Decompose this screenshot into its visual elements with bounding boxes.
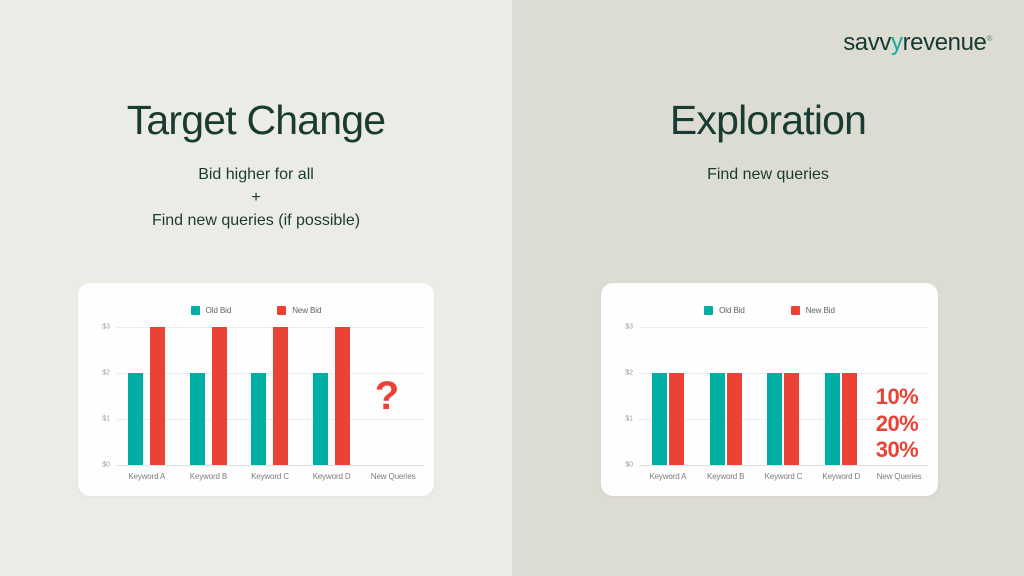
bar-group-new-queries: ? New Queries [362, 327, 424, 465]
new-queries-annotation-right: 10% 20% 30% [866, 327, 928, 465]
bar-old-bid-keyword-b [190, 373, 205, 465]
percent-value-10: 10% [876, 385, 919, 410]
xlabel-keyword-b: Keyword B [190, 472, 227, 481]
bar-groups-left: Keyword A Keyword B Keyword C [116, 327, 424, 465]
bar-group-keyword-d: Keyword D [301, 327, 363, 465]
percent-value-30: 30% [876, 438, 919, 463]
bar-old-bid-keyword-b-right [710, 373, 725, 465]
xlabel-keyword-b-right: Keyword B [707, 472, 744, 481]
xlabel-keyword-d-right: Keyword D [822, 472, 860, 481]
bar-group-keyword-b-right: Keyword B [697, 327, 755, 465]
gridline-0-right [639, 465, 928, 466]
left-page-title: Target Change [127, 100, 386, 141]
legend-item-old-bid-right: Old Bid [704, 306, 745, 315]
bar-group-new-queries-right: 10% 20% 30% New Queries [870, 327, 928, 465]
xlabel-keyword-a: Keyword A [128, 472, 165, 481]
plot-area-right: $3 $2 $1 $0 Keyword A [639, 327, 928, 465]
ytick-label-3-right: $3 [625, 324, 633, 331]
ytick-label-0: $0 [102, 462, 110, 469]
legend-label-old-bid-right: Old Bid [719, 306, 745, 315]
right-subtitle: Find new queries [707, 163, 829, 186]
bar-old-bid-keyword-c [251, 373, 266, 465]
legend-label-old-bid: Old Bid [206, 306, 232, 315]
exploration-chart-card: Old Bid New Bid $3 $2 $1 $0 [601, 283, 938, 496]
legend-item-new-bid-right: New Bid [791, 306, 835, 315]
bar-new-bid-keyword-c [273, 327, 288, 465]
legend-swatch-old-bid [191, 306, 200, 315]
xlabel-keyword-a-right: Keyword A [649, 472, 686, 481]
ytick-label-2-right: $2 [625, 369, 633, 376]
gridline-0 [116, 465, 424, 466]
bar-new-bid-keyword-d-right [842, 373, 857, 465]
bar-group-keyword-a-right: Keyword A [639, 327, 697, 465]
plot-area-left: $3 $2 $1 $0 Keyword A [116, 327, 424, 465]
xlabel-keyword-c: Keyword C [251, 472, 289, 481]
bar-old-bid-keyword-c-right [767, 373, 782, 465]
bar-new-bid-keyword-a-right [669, 373, 684, 465]
legend-swatch-new-bid-right [791, 306, 800, 315]
legend-label-new-bid: New Bid [292, 306, 321, 315]
bar-new-bid-keyword-b [212, 327, 227, 465]
legend-swatch-old-bid-right [704, 306, 713, 315]
ytick-label-1: $1 [102, 415, 110, 422]
legend-item-new-bid: New Bid [277, 306, 321, 315]
ytick-label-3: $3 [102, 324, 110, 331]
exploration-chart: Old Bid New Bid $3 $2 $1 $0 [601, 283, 938, 496]
bar-group-keyword-d-right: Keyword D [812, 327, 870, 465]
bar-new-bid-keyword-c-right [784, 373, 799, 465]
bar-group-keyword-a: Keyword A [116, 327, 178, 465]
bar-new-bid-keyword-b-right [727, 373, 742, 465]
target-change-chart: Old Bid New Bid $3 $2 $1 $0 [78, 283, 434, 496]
bar-new-bid-keyword-a [150, 327, 165, 465]
left-subtitle: Bid higher for all + Find new queries (i… [152, 163, 360, 233]
percent-value-20: 20% [876, 412, 919, 437]
bar-group-keyword-c-right: Keyword C [755, 327, 813, 465]
right-page-title: Exploration [670, 100, 866, 141]
xlabel-new-queries-right: New Queries [877, 472, 922, 481]
bar-old-bid-keyword-d [313, 373, 328, 465]
target-change-chart-card: Old Bid New Bid $3 $2 $1 $0 [78, 283, 434, 496]
chart-legend-left: Old Bid New Bid [78, 306, 434, 315]
chart-legend-right: Old Bid New Bid [601, 306, 938, 315]
ytick-label-0-right: $0 [625, 462, 633, 469]
bar-old-bid-keyword-a-right [652, 373, 667, 465]
bar-new-bid-keyword-d [335, 327, 350, 465]
bar-groups-right: Keyword A Keyword B Keyword C [639, 327, 928, 465]
legend-swatch-new-bid [277, 306, 286, 315]
bar-group-keyword-c: Keyword C [239, 327, 301, 465]
xlabel-new-queries: New Queries [371, 472, 416, 481]
legend-label-new-bid-right: New Bid [806, 306, 835, 315]
bar-old-bid-keyword-d-right [825, 373, 840, 465]
bar-old-bid-keyword-a [128, 373, 143, 465]
ytick-label-2: $2 [102, 369, 110, 376]
new-queries-annotation-left: ? [358, 327, 416, 465]
bar-group-keyword-b: Keyword B [178, 327, 240, 465]
xlabel-keyword-c-right: Keyword C [765, 472, 803, 481]
legend-item-old-bid: Old Bid [191, 306, 232, 315]
question-mark-icon: ? [375, 376, 399, 416]
xlabel-keyword-d: Keyword D [313, 472, 351, 481]
ytick-label-1-right: $1 [625, 415, 633, 422]
